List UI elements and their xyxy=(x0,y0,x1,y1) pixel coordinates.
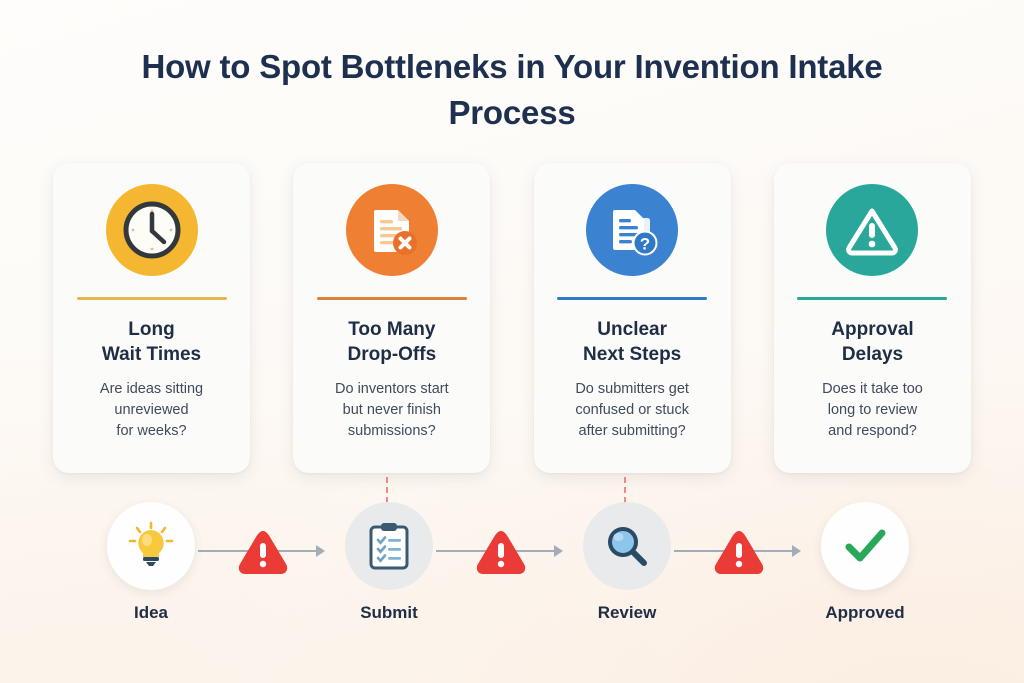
flow-node-label: Approved xyxy=(817,603,913,623)
process-flow-row: Idea xyxy=(53,502,971,632)
svg-text:?: ? xyxy=(640,235,650,254)
checkmark-icon xyxy=(821,502,909,590)
card-body: Do submitters get confused or stuck afte… xyxy=(565,379,699,442)
card-to-node-dashed-connector xyxy=(624,477,626,503)
flow-node-approved[interactable]: Approved xyxy=(817,502,913,623)
flow-node-review[interactable]: Review xyxy=(579,502,675,623)
magnifier-icon xyxy=(583,502,671,590)
alert-triangle-icon xyxy=(474,528,528,578)
document-question-icon: ? xyxy=(586,184,678,276)
alert-triangle-icon xyxy=(236,528,290,578)
clipboard-icon xyxy=(345,502,433,590)
flow-node-label: Idea xyxy=(103,603,199,623)
clock-icon xyxy=(106,184,198,276)
flow-node-idea[interactable]: Idea xyxy=(103,502,199,623)
lightbulb-icon xyxy=(107,502,195,590)
infographic-canvas: How to Spot Bottleneks in Your Invention… xyxy=(0,0,1024,683)
bottleneck-card-too-many-drop-offs[interactable]: Too Many Drop-Offs Do inventors start bu… xyxy=(293,163,490,473)
card-accent-divider xyxy=(77,297,227,300)
card-title: Too Many Drop-Offs xyxy=(348,317,437,367)
card-accent-divider xyxy=(797,297,947,300)
flow-node-submit[interactable]: Submit xyxy=(341,502,437,623)
card-body: Do inventors start but never finish subm… xyxy=(325,379,459,442)
flow-node-label: Review xyxy=(579,603,675,623)
alert-triangle-icon xyxy=(712,528,766,578)
bottleneck-card-unclear-next-steps[interactable]: ? Unclear Next Steps Do submitters get c… xyxy=(534,163,731,473)
card-title: Long Wait Times xyxy=(102,317,201,367)
card-body: Are ideas sitting unreviewed for weeks? xyxy=(90,379,213,442)
warning-triangle-icon xyxy=(826,184,918,276)
document-error-icon xyxy=(346,184,438,276)
card-title: Unclear Next Steps xyxy=(583,317,681,367)
page-title: How to Spot Bottleneks in Your Invention… xyxy=(112,44,912,136)
bottleneck-card-approval-delays[interactable]: Approval Delays Does it take too long to… xyxy=(774,163,971,473)
flow-node-label: Submit xyxy=(341,603,437,623)
card-to-node-dashed-connector xyxy=(386,477,388,503)
card-body: Does it take too long to review and resp… xyxy=(812,379,933,442)
bottleneck-card-long-wait-times[interactable]: Long Wait Times Are ideas sitting unrevi… xyxy=(53,163,250,473)
card-accent-divider xyxy=(557,297,707,300)
card-title: Approval Delays xyxy=(831,317,913,367)
bottleneck-card-row: Long Wait Times Are ideas sitting unrevi… xyxy=(53,163,971,473)
card-accent-divider xyxy=(317,297,467,300)
